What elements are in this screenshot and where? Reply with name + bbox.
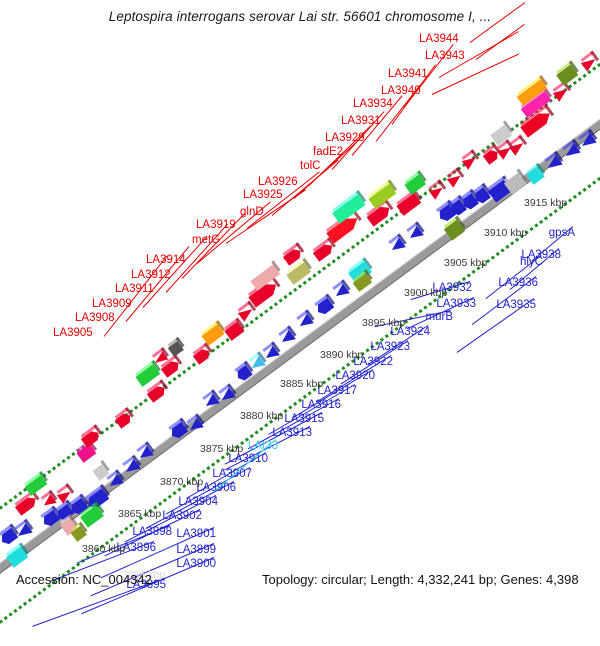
gene-glyph-reverse[interactable] — [388, 237, 406, 254]
gene-reverse-label[interactable]: LA3923 — [370, 342, 410, 354]
gene-forward-leader — [470, 2, 526, 43]
gene-forward-label[interactable]: LA3925 — [243, 190, 283, 202]
topology-text: Topology: circular; Length: 4,332,241 bp… — [262, 572, 579, 587]
gene-rna-label[interactable]: LAt33 — [248, 441, 278, 453]
gene-reverse-label[interactable]: gpsA — [549, 228, 575, 240]
gene-reverse-label[interactable]: LA3920 — [335, 371, 375, 383]
gene-reverse-label[interactable]: LA3904 — [178, 497, 218, 509]
gene-glyph-forward[interactable] — [553, 85, 571, 102]
ruler-tick-label: 3875 kbp — [200, 444, 243, 455]
gene-glyph-forward[interactable] — [168, 341, 184, 357]
gene-glyph-reverse[interactable] — [544, 155, 562, 173]
genome-map-viewer: Leptospira interrogans serovar Lai str. … — [0, 0, 600, 600]
ruler-tick-label: 3870 kbp — [160, 477, 203, 488]
gene-reverse-label[interactable]: LA3917 — [317, 386, 357, 398]
gene-glyph-forward[interactable] — [581, 55, 599, 72]
gene-reverse-label[interactable]: LA3913 — [272, 428, 312, 440]
gene-forward-leader — [197, 201, 271, 263]
gene-forward-leader — [104, 256, 168, 337]
gene-reverse-label[interactable]: LA3900 — [176, 559, 216, 571]
gene-glyph-reverse[interactable] — [296, 313, 314, 330]
gene-reverse-label[interactable]: LA3935 — [496, 300, 536, 312]
gene-reverse-label[interactable]: LA3910 — [228, 454, 268, 466]
gene-glyph-forward[interactable] — [147, 383, 168, 403]
gene-reverse-label[interactable]: hlyC — [520, 257, 543, 269]
gene-glyph-forward[interactable] — [15, 494, 39, 516]
gene-glyph-forward[interactable] — [404, 174, 426, 194]
gene-forward-label[interactable]: LA3941 — [388, 69, 428, 81]
gene-reverse-label[interactable]: LA3916 — [301, 400, 341, 412]
gene-glyph-forward[interactable] — [25, 475, 48, 496]
gene-reverse-label[interactable]: LA3933 — [436, 299, 476, 311]
ruler-tick-label: 3915 kbp — [524, 198, 567, 209]
gene-forward-label[interactable]: LA3908 — [75, 313, 115, 325]
ruler-tick-label: 3905 kbp — [444, 258, 487, 269]
gene-glyph-reverse[interactable] — [332, 283, 350, 300]
gene-reverse-label[interactable]: LA3915 — [284, 414, 324, 426]
gene-reverse-label[interactable]: LA3899 — [176, 545, 216, 557]
gene-glyph-reverse[interactable] — [406, 225, 424, 242]
gene-forward-label[interactable]: LA3926 — [258, 177, 298, 189]
gene-glyph-reverse[interactable] — [562, 143, 580, 161]
gene-glyph-reverse[interactable] — [314, 298, 334, 317]
ruler-tick-label: 3880 kbp — [240, 411, 283, 422]
gene-glyph-forward[interactable] — [447, 171, 464, 188]
accession-text: Accession: NC_004342 — [16, 572, 152, 587]
gene-glyph-forward[interactable] — [366, 203, 392, 227]
gene-reverse-label[interactable]: murB — [426, 312, 453, 324]
gene-glyph-forward[interactable] — [313, 241, 336, 262]
gene-reverse-label[interactable]: LA3898 — [132, 527, 172, 539]
ruler-tick-label: 3860 kbp — [82, 544, 125, 555]
gene-forward-label[interactable]: LA3905 — [53, 328, 93, 340]
gene-glyph-reverse[interactable] — [71, 526, 87, 542]
gene-glyph-forward[interactable] — [115, 411, 134, 429]
gene-reverse-label[interactable]: LA3901 — [176, 529, 216, 541]
ruler-tick-label: 3895 kbp — [362, 318, 405, 329]
sequence-map-canvas[interactable]: LA3944LA3943LA3941LA3940LA3934LA3931LA39… — [0, 0, 600, 600]
gene-reverse-label[interactable]: LA3902 — [162, 511, 202, 523]
gene-glyph-forward[interactable] — [396, 193, 421, 216]
ruler-tick-label: 3900 kbp — [404, 288, 447, 299]
ruler-tick-label: 3885 kbp — [280, 379, 323, 390]
gene-glyph-forward[interactable] — [462, 153, 479, 170]
ruler-tick-label: 3910 kbp — [484, 228, 527, 239]
gene-reverse-label[interactable]: LA3936 — [498, 278, 538, 290]
gene-glyph-forward[interactable] — [429, 183, 446, 200]
gene-forward-label[interactable]: tolC — [300, 161, 320, 173]
ruler-tick-label: 3865 kbp — [118, 509, 161, 520]
gene-forward-label[interactable]: LA3934 — [353, 99, 393, 111]
ruler-tick-label: 3890 kbp — [320, 350, 363, 361]
